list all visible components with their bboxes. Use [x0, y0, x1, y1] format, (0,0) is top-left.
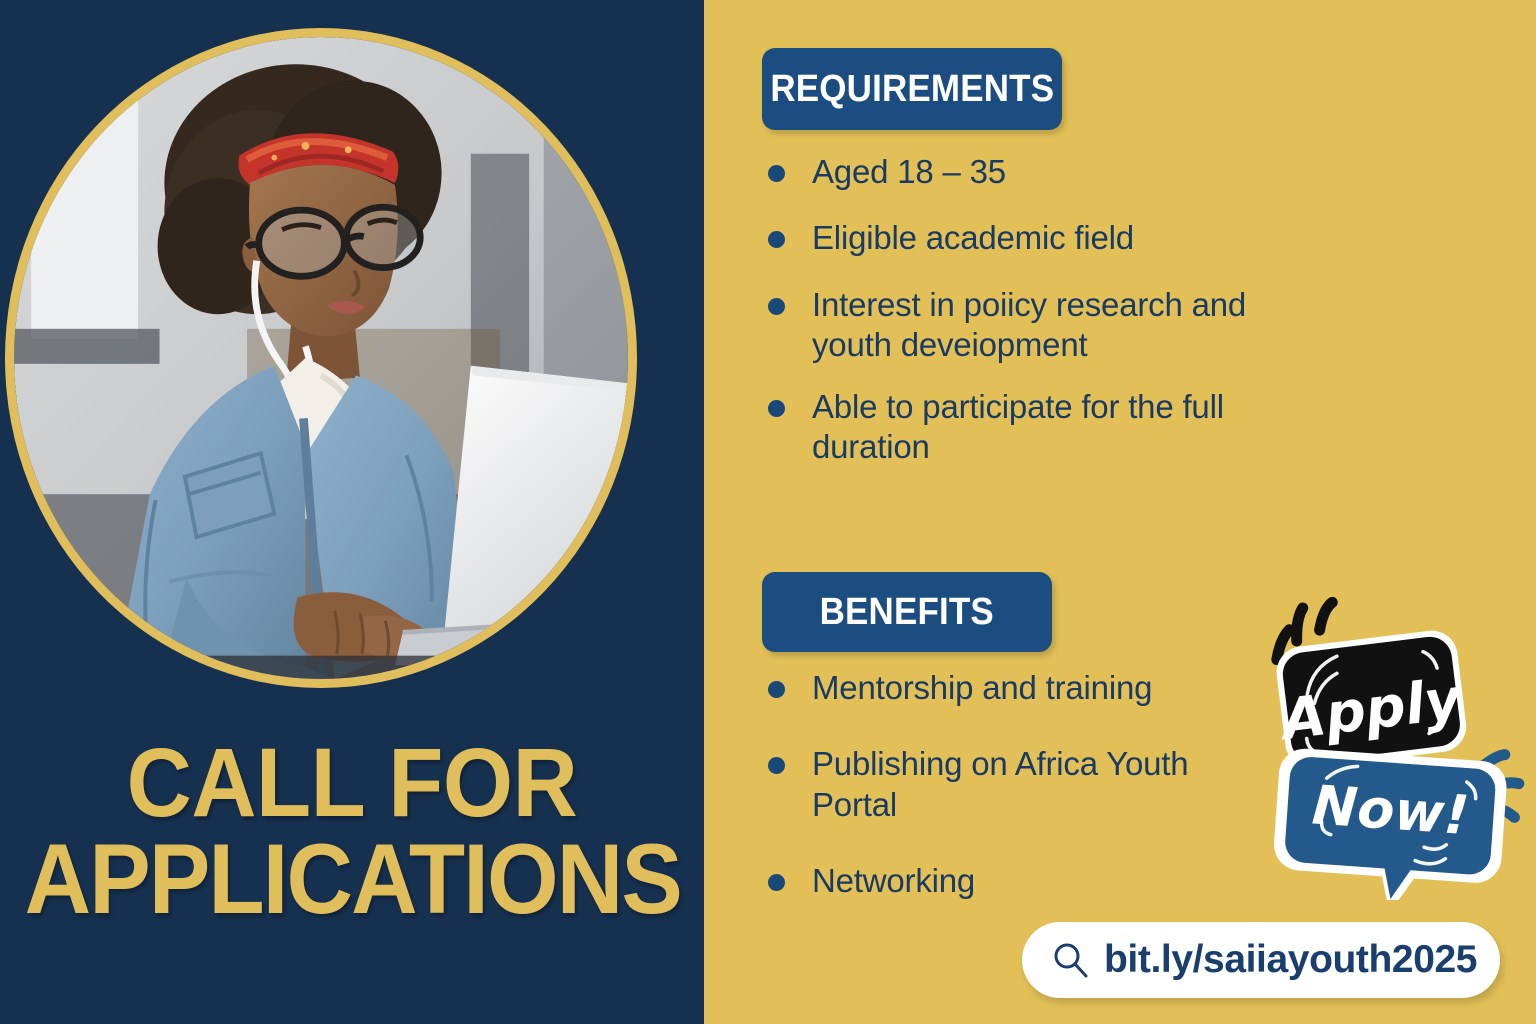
list-item: Interest in poiicy research and youth de…	[760, 285, 1280, 366]
bullet-dot-icon	[768, 874, 785, 891]
list-item-label: Networking	[812, 861, 1280, 901]
list-item: Publishing on Africa Youth Portal	[760, 744, 1280, 825]
apply-now-sticker[interactable]: Apply	[1258, 588, 1528, 900]
list-item: Eligible academic field	[760, 218, 1280, 258]
apply-url-text: bit.ly/saiiayouth2025	[1104, 938, 1477, 982]
benefits-badge: BENEFITS	[762, 572, 1052, 652]
list-item: Able to participate for the full duratio…	[760, 387, 1280, 468]
bullet-dot-icon	[768, 400, 785, 417]
portrait-gold-ring	[5, 28, 637, 688]
poster: CALL FOR APPLICATIONS REQUIREMENTS Aged …	[0, 0, 1536, 1024]
requirements-badge: REQUIREMENTS	[762, 48, 1062, 130]
bullet-dot-icon	[768, 231, 785, 248]
list-item: Mentorship and training	[760, 668, 1280, 708]
list-item: Aged 18 – 35	[760, 152, 1280, 192]
list-item-label: Interest in poiicy research and youth de…	[812, 285, 1280, 366]
bullet-dot-icon	[768, 165, 785, 182]
list-item-label: Publishing on Africa Youth Portal	[812, 744, 1280, 825]
list-item: Networking	[760, 861, 1280, 901]
portrait-photo	[14, 37, 628, 679]
sticker-line-2-text: Now!	[1310, 773, 1471, 847]
bullet-dot-icon	[768, 298, 785, 315]
requirements-badge-label: REQUIREMENTS	[770, 68, 1054, 111]
list-item-label: Eligible academic field	[812, 218, 1280, 258]
list-item-label: Able to participate for the full duratio…	[812, 387, 1280, 468]
benefits-list: Mentorship and training Publishing on Af…	[760, 668, 1280, 937]
page-title: CALL FOR APPLICATIONS	[25, 735, 680, 927]
list-item-label: Mentorship and training	[812, 668, 1280, 708]
bullet-dot-icon	[768, 681, 785, 698]
headline-line-2: APPLICATIONS	[25, 830, 680, 927]
apply-url-pill[interactable]: bit.ly/saiiayouth2025	[1022, 922, 1500, 998]
search-icon	[1050, 940, 1090, 980]
portrait-container	[5, 28, 637, 688]
benefits-badge-label: BENEFITS	[820, 591, 994, 634]
bullet-dot-icon	[768, 757, 785, 774]
requirements-list: Aged 18 – 35 Eligible academic field Int…	[760, 152, 1280, 490]
list-item-label: Aged 18 – 35	[812, 152, 1280, 192]
headline-line-1: CALL FOR	[127, 728, 578, 837]
